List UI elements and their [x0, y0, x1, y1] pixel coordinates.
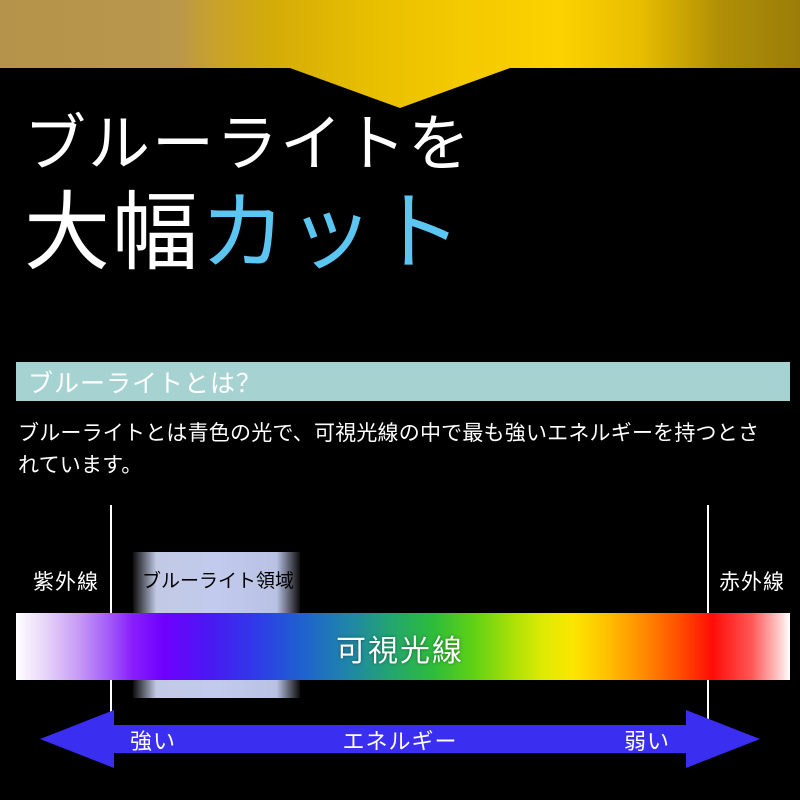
infographic-page: ブルーライトを 大幅カット ブルーライトとは？ ブルーライトとは青色の光で、可視…	[0, 0, 800, 800]
headline-line-2-white: 大幅	[24, 183, 200, 283]
headline-line-2: 大幅カット	[24, 184, 776, 282]
section-heading-band: ブルーライトとは？	[16, 362, 790, 401]
label-visible-light: 可視光線	[0, 626, 800, 670]
body-paragraph: ブルーライトとは青色の光で、可視光線の中で最も強いエネルギーを持つとされています…	[18, 418, 780, 482]
section-heading-label: ブルーライトとは？	[16, 364, 262, 400]
spectrum-diagram: 紫外線 赤外線 ブルーライト領域 可視光線 強い エネルギー 弱い	[0, 490, 800, 800]
gold-banner-decoration	[0, 0, 800, 108]
label-ultraviolet: 紫外線	[33, 566, 99, 596]
headline-line-2-accent: カット	[200, 183, 464, 283]
label-energy-weak: 弱い	[624, 724, 670, 756]
label-bluelight-region: ブルーライト領域	[142, 566, 292, 593]
energy-arrow: 強い エネルギー 弱い	[40, 710, 760, 768]
headline-line-1: ブルーライトを	[24, 108, 776, 180]
headline-block: ブルーライトを 大幅カット	[24, 108, 776, 282]
label-infrared: 赤外線	[719, 566, 785, 596]
